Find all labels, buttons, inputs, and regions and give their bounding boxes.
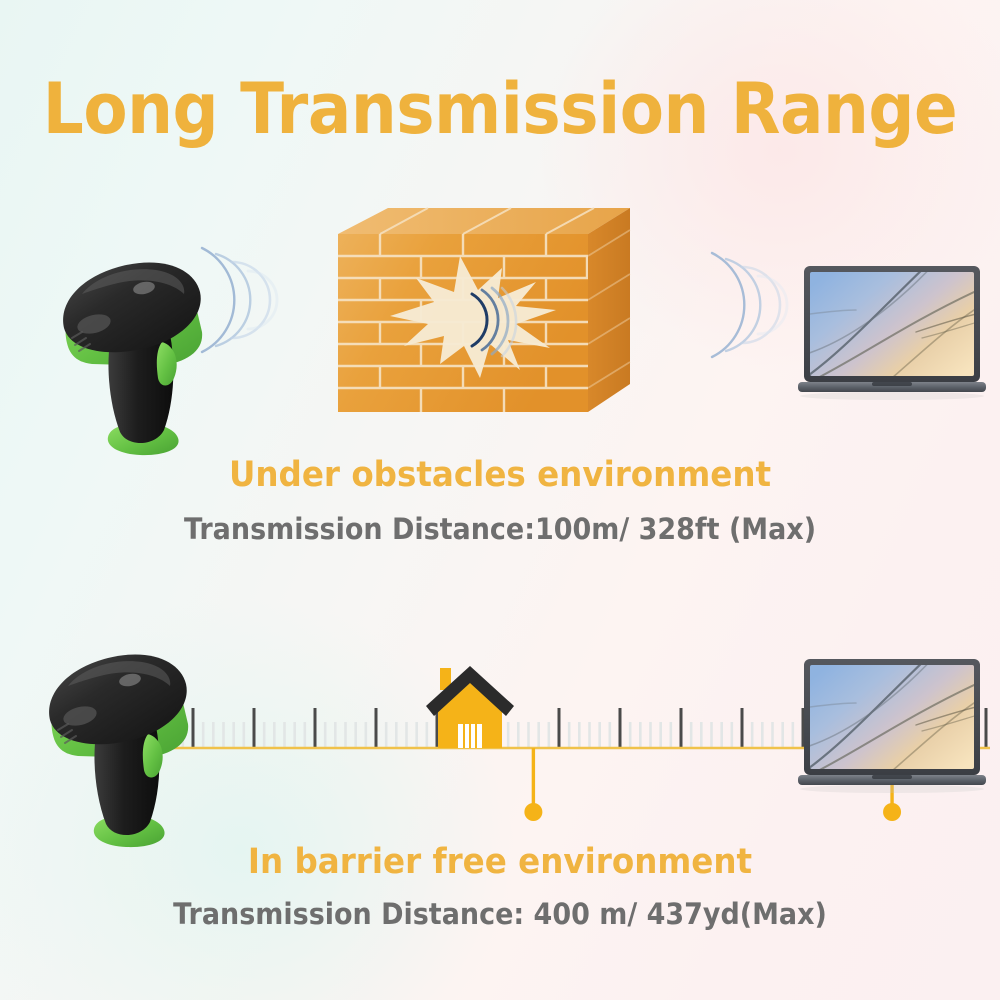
section-heading-obstacles: Under obstacles environment bbox=[35, 455, 965, 495]
section-distance-barrier-free: Transmission Distance: 400 m/ 437yd(Max) bbox=[35, 897, 965, 931]
section-heading-barrier-free: In barrier free environment bbox=[35, 842, 965, 882]
brick-wall-obstacle bbox=[330, 198, 636, 430]
house-icon bbox=[418, 662, 522, 754]
house-marker-dot bbox=[524, 803, 542, 821]
page-title: Long Transmission Range bbox=[40, 68, 960, 150]
laptop-receiver bbox=[796, 262, 988, 414]
infographic-canvas: Long Transmission Range bbox=[0, 0, 1000, 1000]
laptop-receiver bbox=[796, 655, 988, 807]
barcode-scanner-icon bbox=[38, 638, 228, 853]
barcode-scanner-icon bbox=[52, 246, 242, 461]
section-distance-obstacles: Transmission Distance:100m/ 328ft (Max) bbox=[35, 512, 965, 546]
